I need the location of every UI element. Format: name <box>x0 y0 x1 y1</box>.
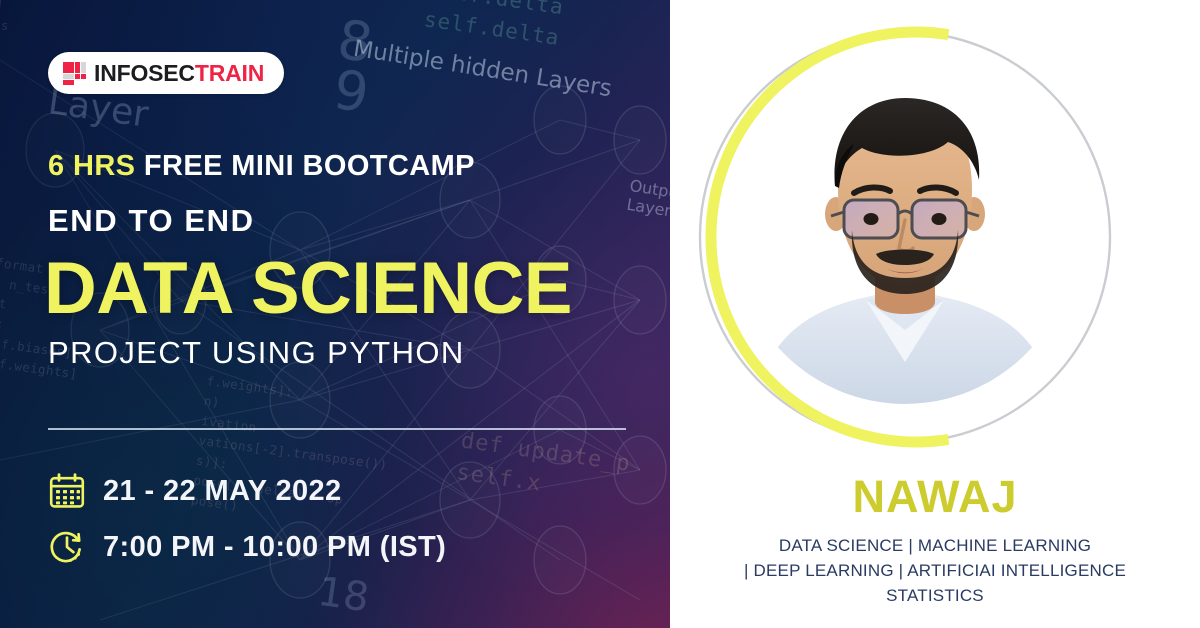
speaker-tags-line-2: | DEEP LEARNING | ARTIFICIAI INTELLIGENC… <box>670 558 1200 583</box>
speaker-tags-line-1: DATA SCIENCE | MACHINE LEARNING <box>670 533 1200 558</box>
speaker-avatar <box>734 62 1076 404</box>
left-promo-panel: nts); mini_batch _data)] ) atch_size] in… <box>0 0 670 628</box>
logo-word-train: TRAIN <box>195 60 264 86</box>
speaker-photo-frame <box>688 20 1122 454</box>
promo-kicker: 6 HRS FREE MINI BOOTCAMP <box>48 152 475 181</box>
promo-subheadline: PROJECT USING PYTHON <box>48 337 465 368</box>
speaker-panel: NAWAJ DATA SCIENCE | MACHINE LEARNING | … <box>670 0 1200 628</box>
schedule-date-row: 21 - 22 MAY 2022 <box>48 472 342 510</box>
logo-wordmark: INFOSECTRAIN <box>94 62 264 85</box>
kicker-duration: 6 HRS <box>48 150 135 182</box>
promo-headline: DATA SCIENCE <box>44 252 572 325</box>
logo-word-infosec: INFOSEC <box>94 60 195 86</box>
speaker-expertise-tags: DATA SCIENCE | MACHINE LEARNING | DEEP L… <box>670 533 1200 608</box>
bootcamp-banner: nts); mini_batch _data)] ) atch_size] in… <box>0 0 1200 628</box>
schedule-time-row: 7:00 PM - 10:00 PM (IST) <box>48 528 446 566</box>
schedule-date: 21 - 22 MAY 2022 <box>103 477 342 506</box>
infosectrain-squares-logo-icon <box>63 62 85 84</box>
speaker-portrait-illustration <box>734 62 1076 404</box>
infosectrain-logo[interactable]: INFOSECTRAIN <box>48 52 284 94</box>
kicker-rest: FREE MINI BOOTCAMP <box>135 150 475 182</box>
clock-icon <box>48 528 86 566</box>
promo-eyebrow: END TO END <box>48 205 255 236</box>
calendar-icon <box>48 472 86 510</box>
speaker-tags-line-3: STATISTICS <box>670 583 1200 608</box>
promo-content: 6 HRS FREE MINI BOOTCAMP END TO END DATA… <box>48 0 648 628</box>
speaker-name: NAWAJ <box>670 474 1200 519</box>
section-divider <box>48 428 626 430</box>
schedule-time: 7:00 PM - 10:00 PM (IST) <box>103 533 446 562</box>
